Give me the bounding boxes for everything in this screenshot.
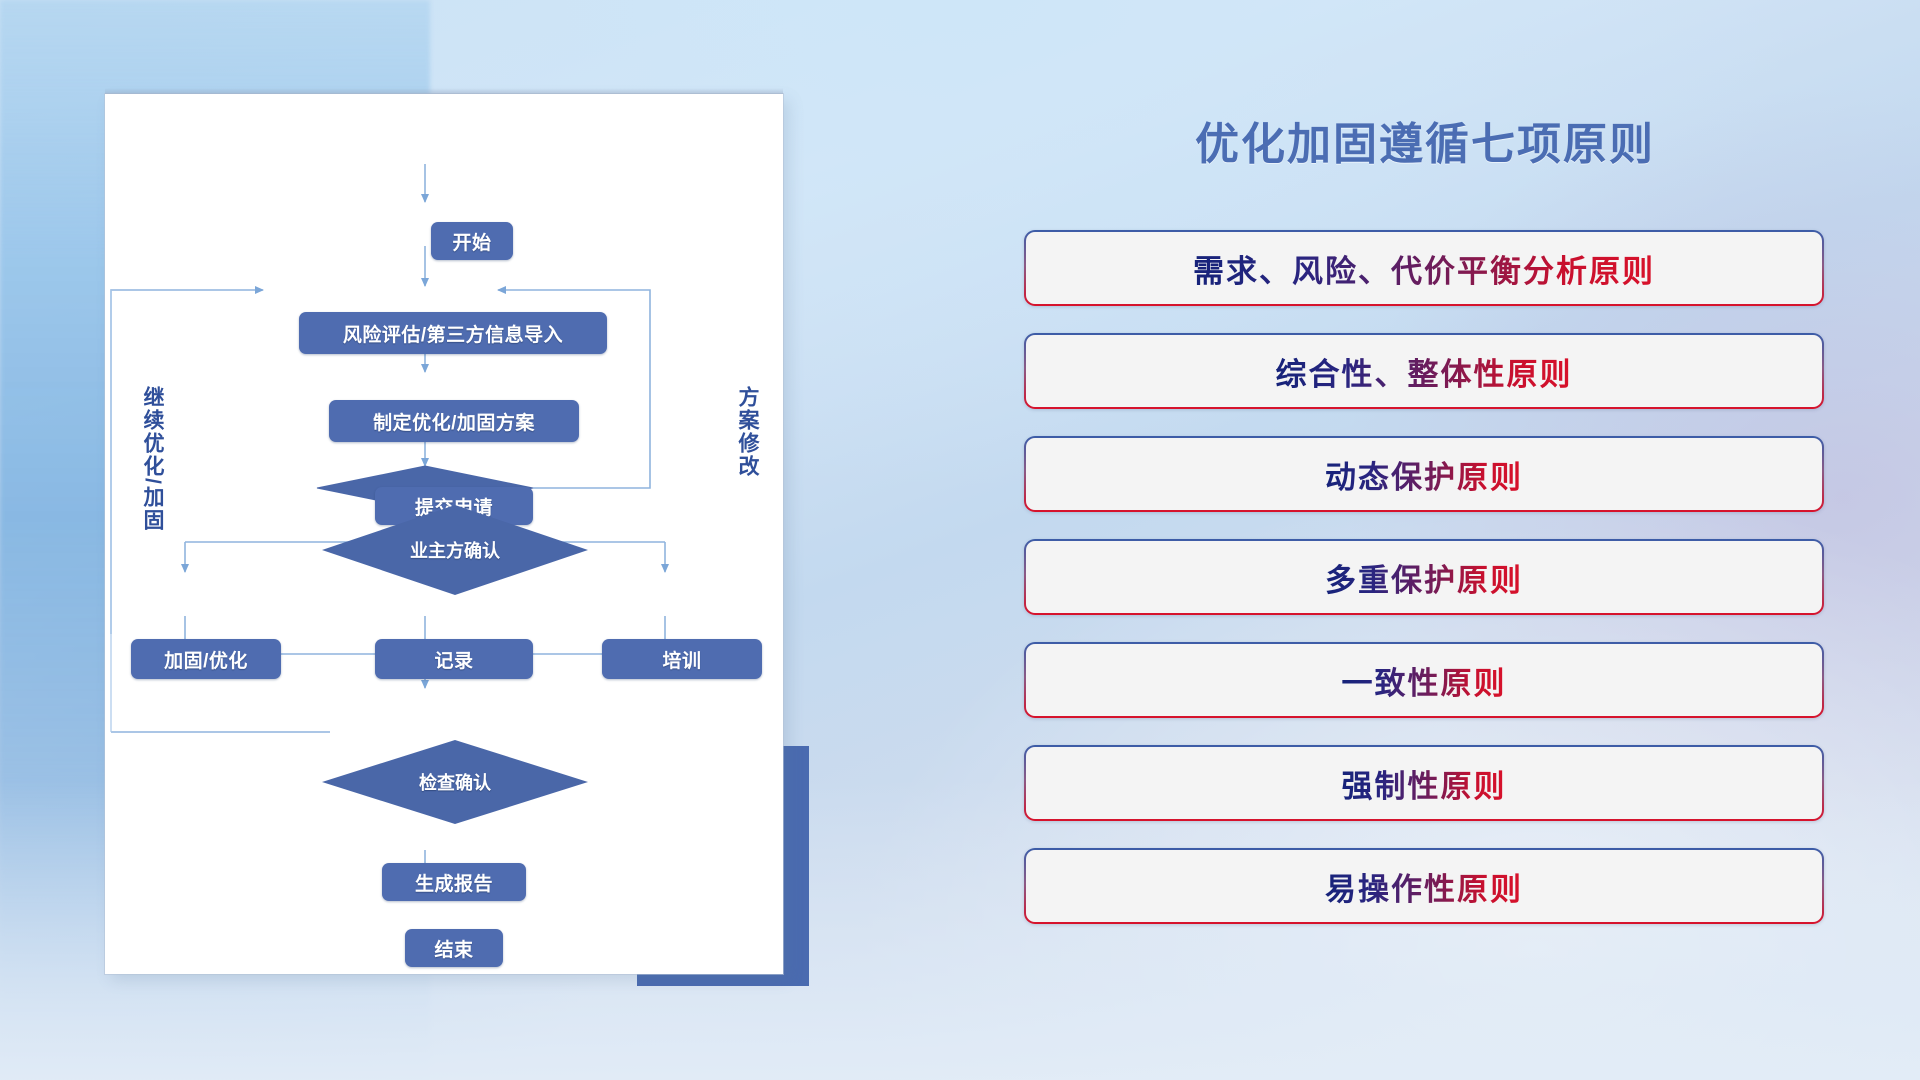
flow-node-reinforce[interactable]: 加固/优化 bbox=[131, 639, 281, 679]
principle-label: 动态保护原则 bbox=[1325, 452, 1523, 497]
flow-node-check-confirm[interactable]: 检查确认 bbox=[320, 738, 590, 826]
flow-node-risk-assessment[interactable]: 风险评估/第三方信息导入 bbox=[299, 312, 607, 354]
principle-item-inner: 动态保护原则 bbox=[1026, 438, 1822, 510]
principle-item[interactable]: 综合性、整体性原则 bbox=[1024, 333, 1824, 409]
principle-item[interactable]: 多重保护原则 bbox=[1024, 539, 1824, 615]
principle-item-inner: 综合性、整体性原则 bbox=[1026, 335, 1822, 407]
principle-item[interactable]: 一致性原则 bbox=[1024, 642, 1824, 718]
flow-edge-label-right: 方案修改 bbox=[736, 386, 758, 478]
principles-list: 需求、风险、代价平衡分析原则 综合性、整体性原则 动态保护原则 多重保护原则 一… bbox=[1024, 230, 1824, 951]
principle-item-inner: 易操作性原则 bbox=[1026, 850, 1822, 922]
flow-node-plan[interactable]: 制定优化/加固方案 bbox=[329, 400, 579, 442]
principle-item-inner: 需求、风险、代价平衡分析原则 bbox=[1026, 232, 1822, 304]
principles-panel: 优化加固遵循七项原则 需求、风险、代价平衡分析原则 综合性、整体性原则 动态保护… bbox=[1010, 80, 1840, 1040]
principle-label: 综合性、整体性原则 bbox=[1276, 349, 1573, 394]
principle-label: 一致性原则 bbox=[1342, 658, 1507, 703]
principle-label: 易操作性原则 bbox=[1325, 864, 1523, 909]
flow-node-end[interactable]: 结束 bbox=[405, 929, 503, 967]
flow-edge-label-left: 继续优化/加固 bbox=[141, 386, 163, 532]
principle-item[interactable]: 易操作性原则 bbox=[1024, 848, 1824, 924]
principle-label: 强制性原则 bbox=[1342, 761, 1507, 806]
principle-item[interactable]: 强制性原则 bbox=[1024, 745, 1824, 821]
principle-item-inner: 多重保护原则 bbox=[1026, 541, 1822, 613]
principle-label: 多重保护原则 bbox=[1325, 555, 1523, 600]
principle-item-inner: 一致性原则 bbox=[1026, 644, 1822, 716]
panel-title: 优化加固遵循七项原则 bbox=[1010, 108, 1840, 172]
principle-item[interactable]: 动态保护原则 bbox=[1024, 436, 1824, 512]
flow-node-start[interactable]: 开始 bbox=[431, 222, 513, 260]
flow-node-training[interactable]: 培训 bbox=[602, 639, 762, 679]
flow-node-report[interactable]: 生成报告 bbox=[382, 863, 526, 901]
principle-item-inner: 强制性原则 bbox=[1026, 747, 1822, 819]
principle-item[interactable]: 需求、风险、代价平衡分析原则 bbox=[1024, 230, 1824, 306]
flow-node-record[interactable]: 记录 bbox=[375, 639, 533, 679]
principle-label: 需求、风险、代价平衡分析原则 bbox=[1193, 246, 1655, 291]
flow-node-owner-confirm[interactable]: 业主方确认 bbox=[320, 503, 590, 597]
